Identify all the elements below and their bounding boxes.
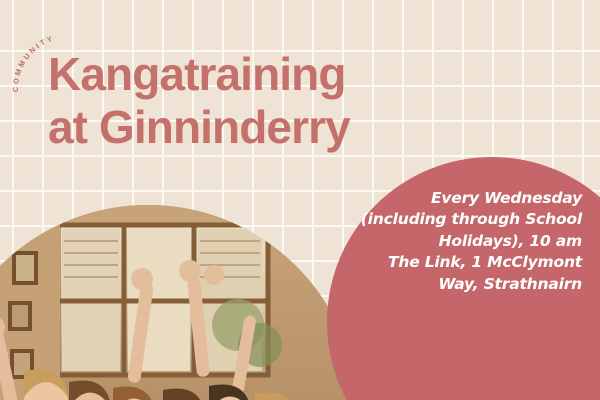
group-photo-image	[0, 205, 358, 400]
event-details-text: Every Wednesday (including through Schoo…	[360, 188, 582, 295]
grid-line-horizontal	[0, 155, 600, 157]
photo-circle	[0, 205, 358, 400]
poster-canvas: COMMUNITY Kangatraining at Ginninderry	[0, 0, 600, 400]
page-title: Kangatraining at Ginninderry	[48, 48, 468, 155]
